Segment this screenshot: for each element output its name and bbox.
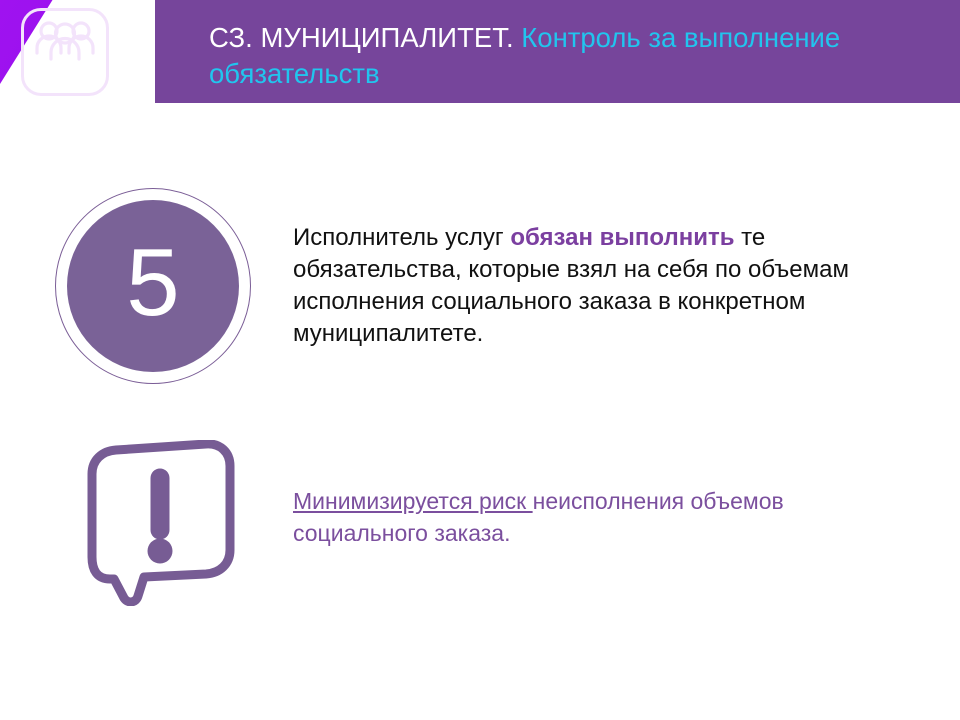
page-title: СЗ. МУНИЦИПАЛИТЕТ. Контроль за выполнени…	[209, 20, 909, 92]
note-paragraph: Минимизируется риск неисполнения объемов…	[293, 485, 813, 549]
note-paragraph-underlined: Минимизируется риск	[293, 488, 533, 514]
logo-badge: СЗ	[21, 8, 109, 96]
logo-badge-label: СЗ	[24, 63, 106, 90]
step-number-value: 5	[126, 235, 179, 331]
exclamation-speech-bubble-icon	[78, 440, 238, 611]
slide-root: СЗ СЗ. МУНИЦИПАЛИТЕТ. Контроль за выполн…	[0, 0, 960, 720]
body-paragraph: Исполнитель услуг обязан выполнить те об…	[293, 222, 853, 350]
body-paragraph-part1: Исполнитель услуг	[293, 224, 510, 251]
page-title-main: СЗ. МУНИЦИПАЛИТЕТ.	[209, 22, 514, 53]
step-number-disc: 5	[67, 200, 239, 372]
step-number-badge: 5	[55, 188, 251, 384]
body-paragraph-emphasis: обязан выполнить	[510, 224, 734, 251]
